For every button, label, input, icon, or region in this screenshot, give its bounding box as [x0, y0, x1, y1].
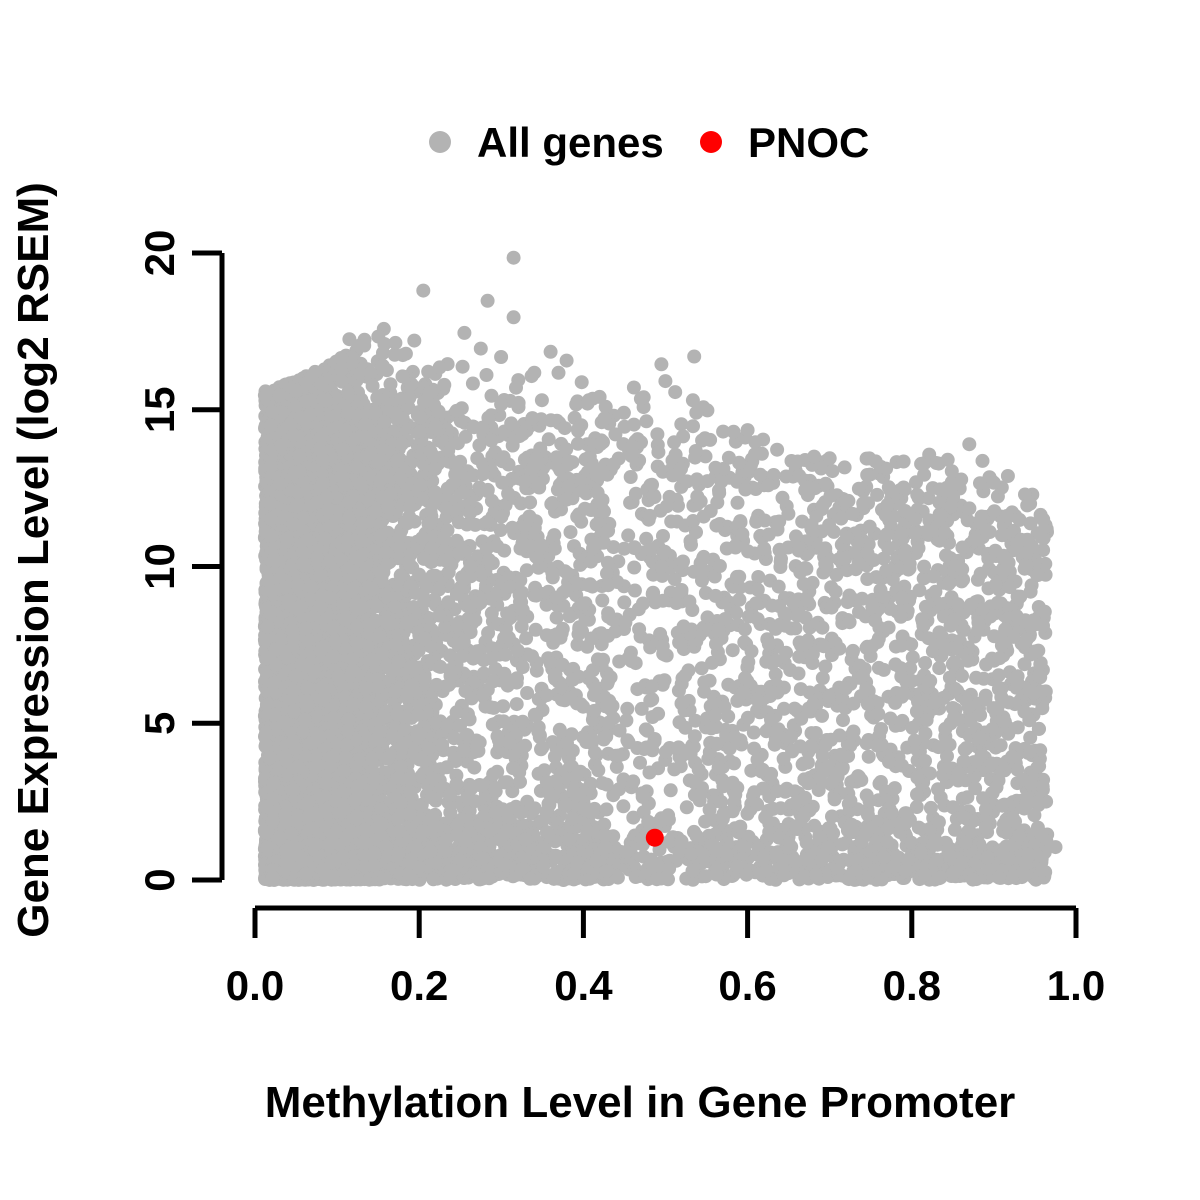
x-tick-label: 0.6 — [718, 962, 776, 1009]
y-tick-label: 0 — [136, 868, 183, 891]
scatter-plot-figure: 05101520 0.00.20.40.60.81.0 Methylation … — [0, 0, 1200, 1200]
y-axis-title: Gene Expression Level (log2 RSEM) — [9, 182, 58, 938]
legend-label-all-genes: All genes — [477, 119, 664, 166]
pnoc-data-point — [646, 829, 664, 847]
y-tick-label: 5 — [136, 712, 183, 735]
legend-label-pnoc: PNOC — [748, 119, 869, 166]
legend-marker-all-genes — [429, 131, 451, 153]
legend-marker-pnoc — [700, 131, 722, 153]
x-tick-label: 0.0 — [226, 962, 284, 1009]
x-axis-title: Methylation Level in Gene Promoter — [265, 1078, 1016, 1127]
x-tick-label: 1.0 — [1047, 962, 1105, 1009]
y-tick-label: 20 — [136, 230, 183, 277]
legend: All genes PNOC — [429, 119, 869, 166]
x-tick-label: 0.8 — [883, 962, 941, 1009]
x-tick-label: 0.4 — [554, 962, 613, 1009]
y-tick-label: 10 — [136, 543, 183, 590]
y-tick-label: 15 — [136, 386, 183, 433]
plot-canvas: 05101520 0.00.20.40.60.81.0 Methylation … — [0, 0, 1200, 1200]
x-tick-label: 0.2 — [390, 962, 448, 1009]
series-pnoc-points — [646, 829, 664, 847]
